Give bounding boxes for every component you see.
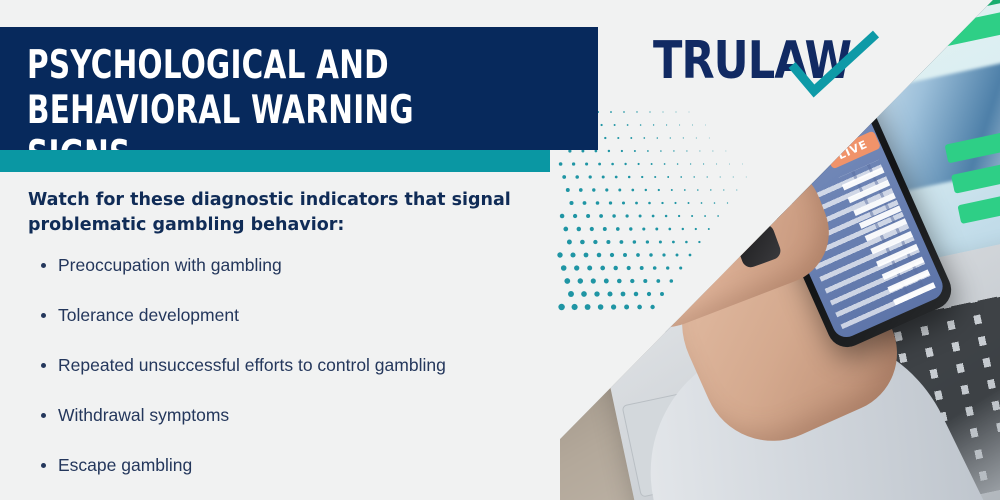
trulaw-logo[interactable]: TRULAW [653,33,873,95]
list-item: Tolerance development [28,298,588,348]
list-item: Withdrawal symptoms [28,398,588,448]
laptop-tile [920,9,1000,51]
laptop-list-row [657,153,732,184]
soccer-ball-icon [758,125,786,153]
index-finger [604,150,780,247]
list-item-label: Withdrawal symptoms [58,405,229,425]
list-item: Escape gambling [28,448,588,498]
laptop-list-row [667,195,774,232]
lead-paragraph: Watch for these diagnostic indicators th… [28,188,563,238]
warning-signs-list: Preoccupation with gambling Tolerance de… [28,248,588,498]
list-item-label: Repeated unsuccessful efforts to control… [58,355,446,375]
app-brand-text: SPORTS [786,103,839,136]
title-block: PSYCHOLOGICAL AND BEHAVIORAL WARNING SIG… [0,27,598,150]
list-item: Preoccupation with gambling [28,248,588,298]
check-icon [788,29,883,99]
list-item-label: Escape gambling [58,455,192,475]
accent-bar [0,150,550,172]
list-item-label: Tolerance development [58,305,239,325]
list-item: Repeated unsuccessful efforts to control… [28,348,588,398]
laptop-list-row [651,129,726,160]
laptop-list-row [662,177,737,208]
laptop-list-row [646,104,721,135]
list-item-label: Preoccupation with gambling [58,255,282,275]
infographic-canvas: SPORTS BETTING SPORTS LIVE [0,0,1000,500]
